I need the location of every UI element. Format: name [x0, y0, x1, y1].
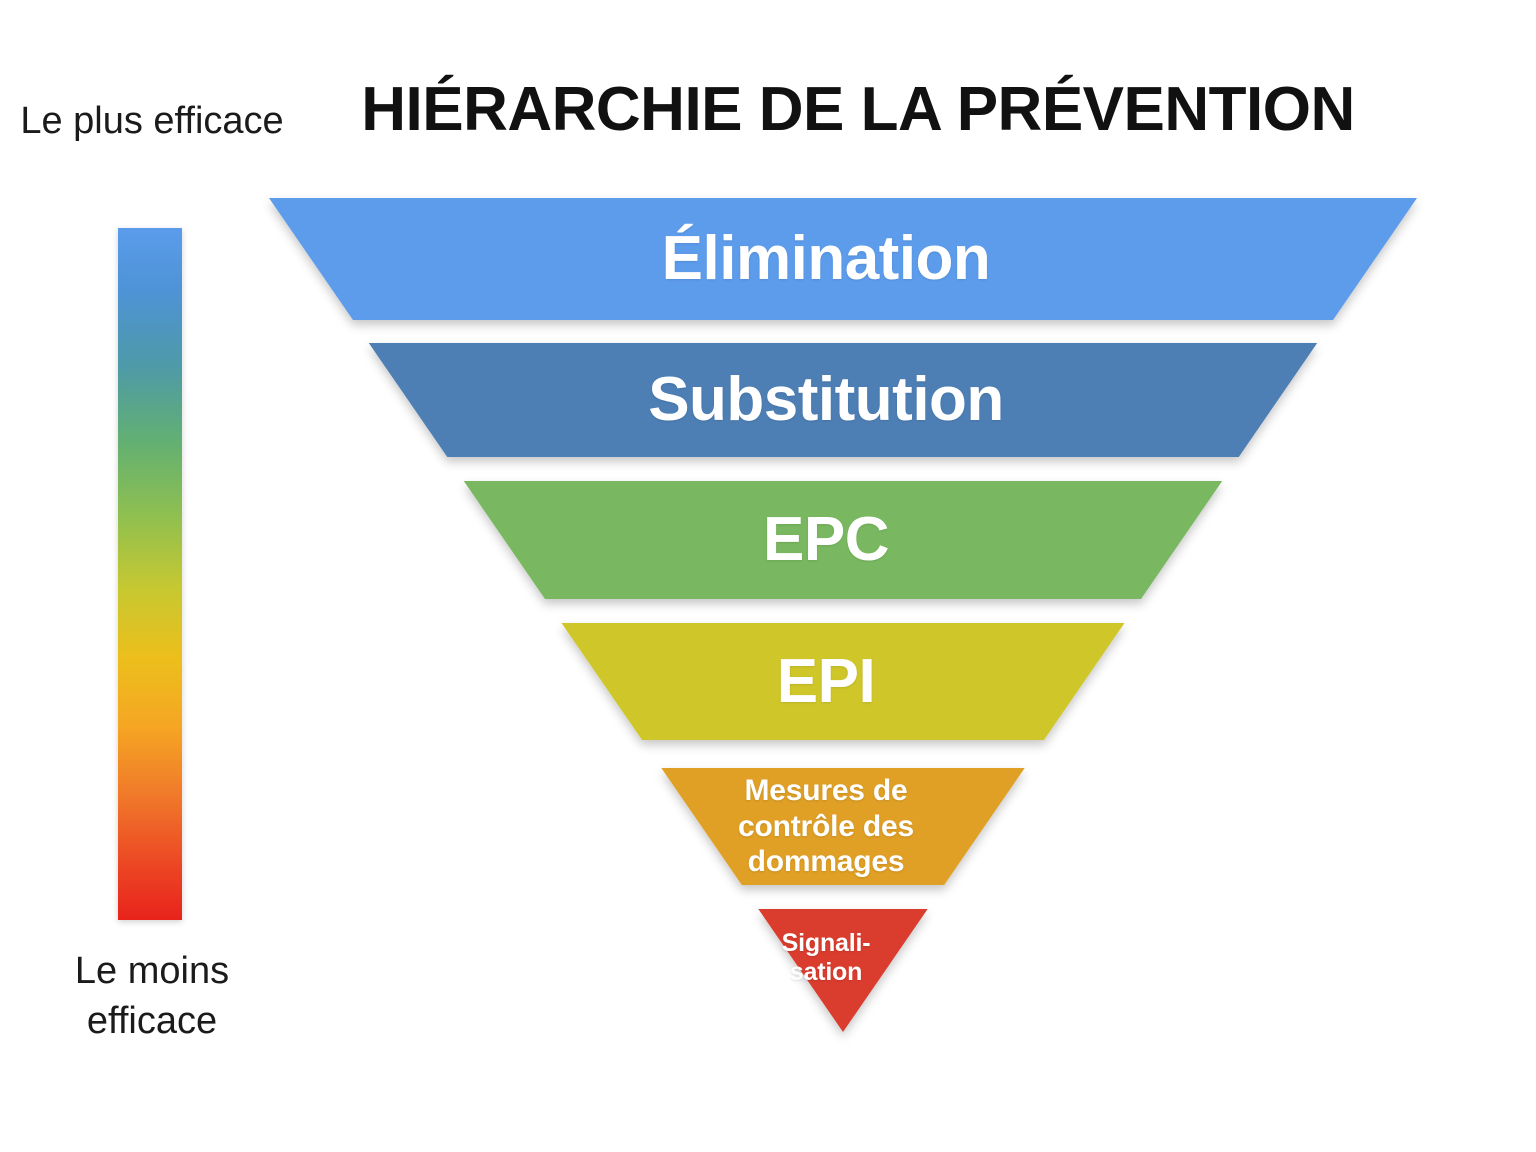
funnel-band-group [269, 198, 1417, 1032]
effectiveness-gradient-bar [118, 228, 182, 920]
prevention-funnel: ÉliminationSubstitutionEPCEPIMesures de … [216, 170, 1436, 1070]
funnel-band-6[interactable] [758, 909, 927, 1032]
infographic-canvas: HIÉRARCHIE DE LA PRÉVENTION Le plus effi… [0, 0, 1536, 1152]
funnel-band-1[interactable] [269, 198, 1417, 320]
funnel-band-2[interactable] [369, 343, 1317, 457]
legend-most-effective-label: Le plus efficace [18, 96, 286, 146]
funnel-band-3[interactable] [464, 481, 1222, 599]
funnel-band-4[interactable] [562, 623, 1125, 740]
funnel-shapes [216, 170, 1436, 1070]
funnel-band-5[interactable] [661, 768, 1024, 885]
